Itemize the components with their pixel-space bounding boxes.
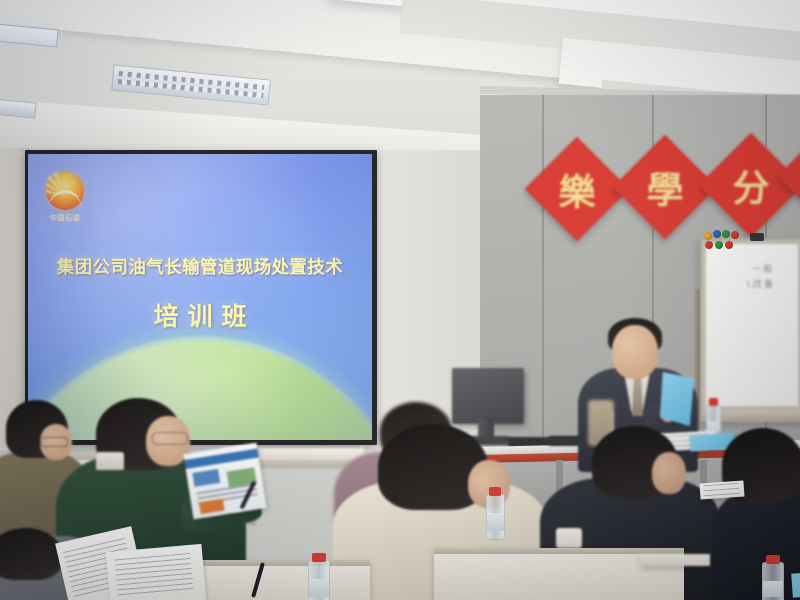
whiteboard-note-line: 一 般 <box>752 262 772 275</box>
lcd-monitor-rear <box>452 368 524 424</box>
magnet <box>713 230 721 238</box>
bottle-cap <box>709 398 718 406</box>
calligraphy-character: 分 <box>714 148 788 222</box>
attendee-suit2-torso <box>712 486 800 600</box>
notes-papers-left-2 <box>106 544 207 600</box>
ceiling-air-grille <box>111 64 271 105</box>
desk-cable <box>548 436 584 446</box>
whiteboard-surface: 一 般 1.改 备 <box>706 244 798 406</box>
whiteboard: 一 般 1.改 备 <box>700 238 800 422</box>
wall-diamond-plaque-3: 分 <box>699 133 800 238</box>
papers-right <box>699 480 744 499</box>
cup <box>96 452 124 470</box>
glasses-icon <box>40 437 68 447</box>
magnet <box>731 231 739 239</box>
bottle-cap <box>766 555 780 564</box>
bottle-label <box>487 513 504 531</box>
attendee-grey-hair <box>0 528 62 580</box>
projection-screen-frame: 中国石油 集团公司油气长输管道现场处置技术 培训班 <box>25 150 377 445</box>
whiteboard-clip <box>750 233 764 241</box>
water-bottle-mid <box>486 494 505 540</box>
desk-right-strip <box>640 554 710 566</box>
blue-document-foreground <box>791 570 800 597</box>
magnet <box>725 241 733 249</box>
magnet <box>704 232 712 240</box>
wall-diamond-plaque-1: 樂 <box>525 137 630 242</box>
screen-vignette <box>28 154 372 440</box>
training-room-photo: 樂 學 分 中国石油 集团公司油气长输管道现场处置技术 培训班 一 般 <box>0 0 800 600</box>
bottle-cap <box>312 553 326 562</box>
speaker-head <box>612 325 658 379</box>
bottle-cap <box>489 487 501 496</box>
projection-screen: 中国石油 集团公司油气长输管道现场处置技术 培训班 <box>28 154 372 440</box>
calligraphy-character: 樂 <box>540 152 614 226</box>
magnet <box>715 241 723 249</box>
magnet <box>705 241 713 249</box>
bottle-label <box>309 579 329 597</box>
cup-right <box>556 528 582 548</box>
ceiling-light-panel <box>0 97 37 118</box>
attendee-suit1-head <box>652 452 686 494</box>
calligraphy-character: 學 <box>628 150 702 224</box>
magnet <box>722 230 730 238</box>
water-bottle-foreground <box>308 560 330 600</box>
water-bottle-right <box>762 562 784 600</box>
whiteboard-note-line: 1.改 备 <box>746 277 773 290</box>
glasses-icon <box>152 432 188 445</box>
bottle-label <box>763 581 783 597</box>
speaker-handout-sheet <box>660 372 694 426</box>
